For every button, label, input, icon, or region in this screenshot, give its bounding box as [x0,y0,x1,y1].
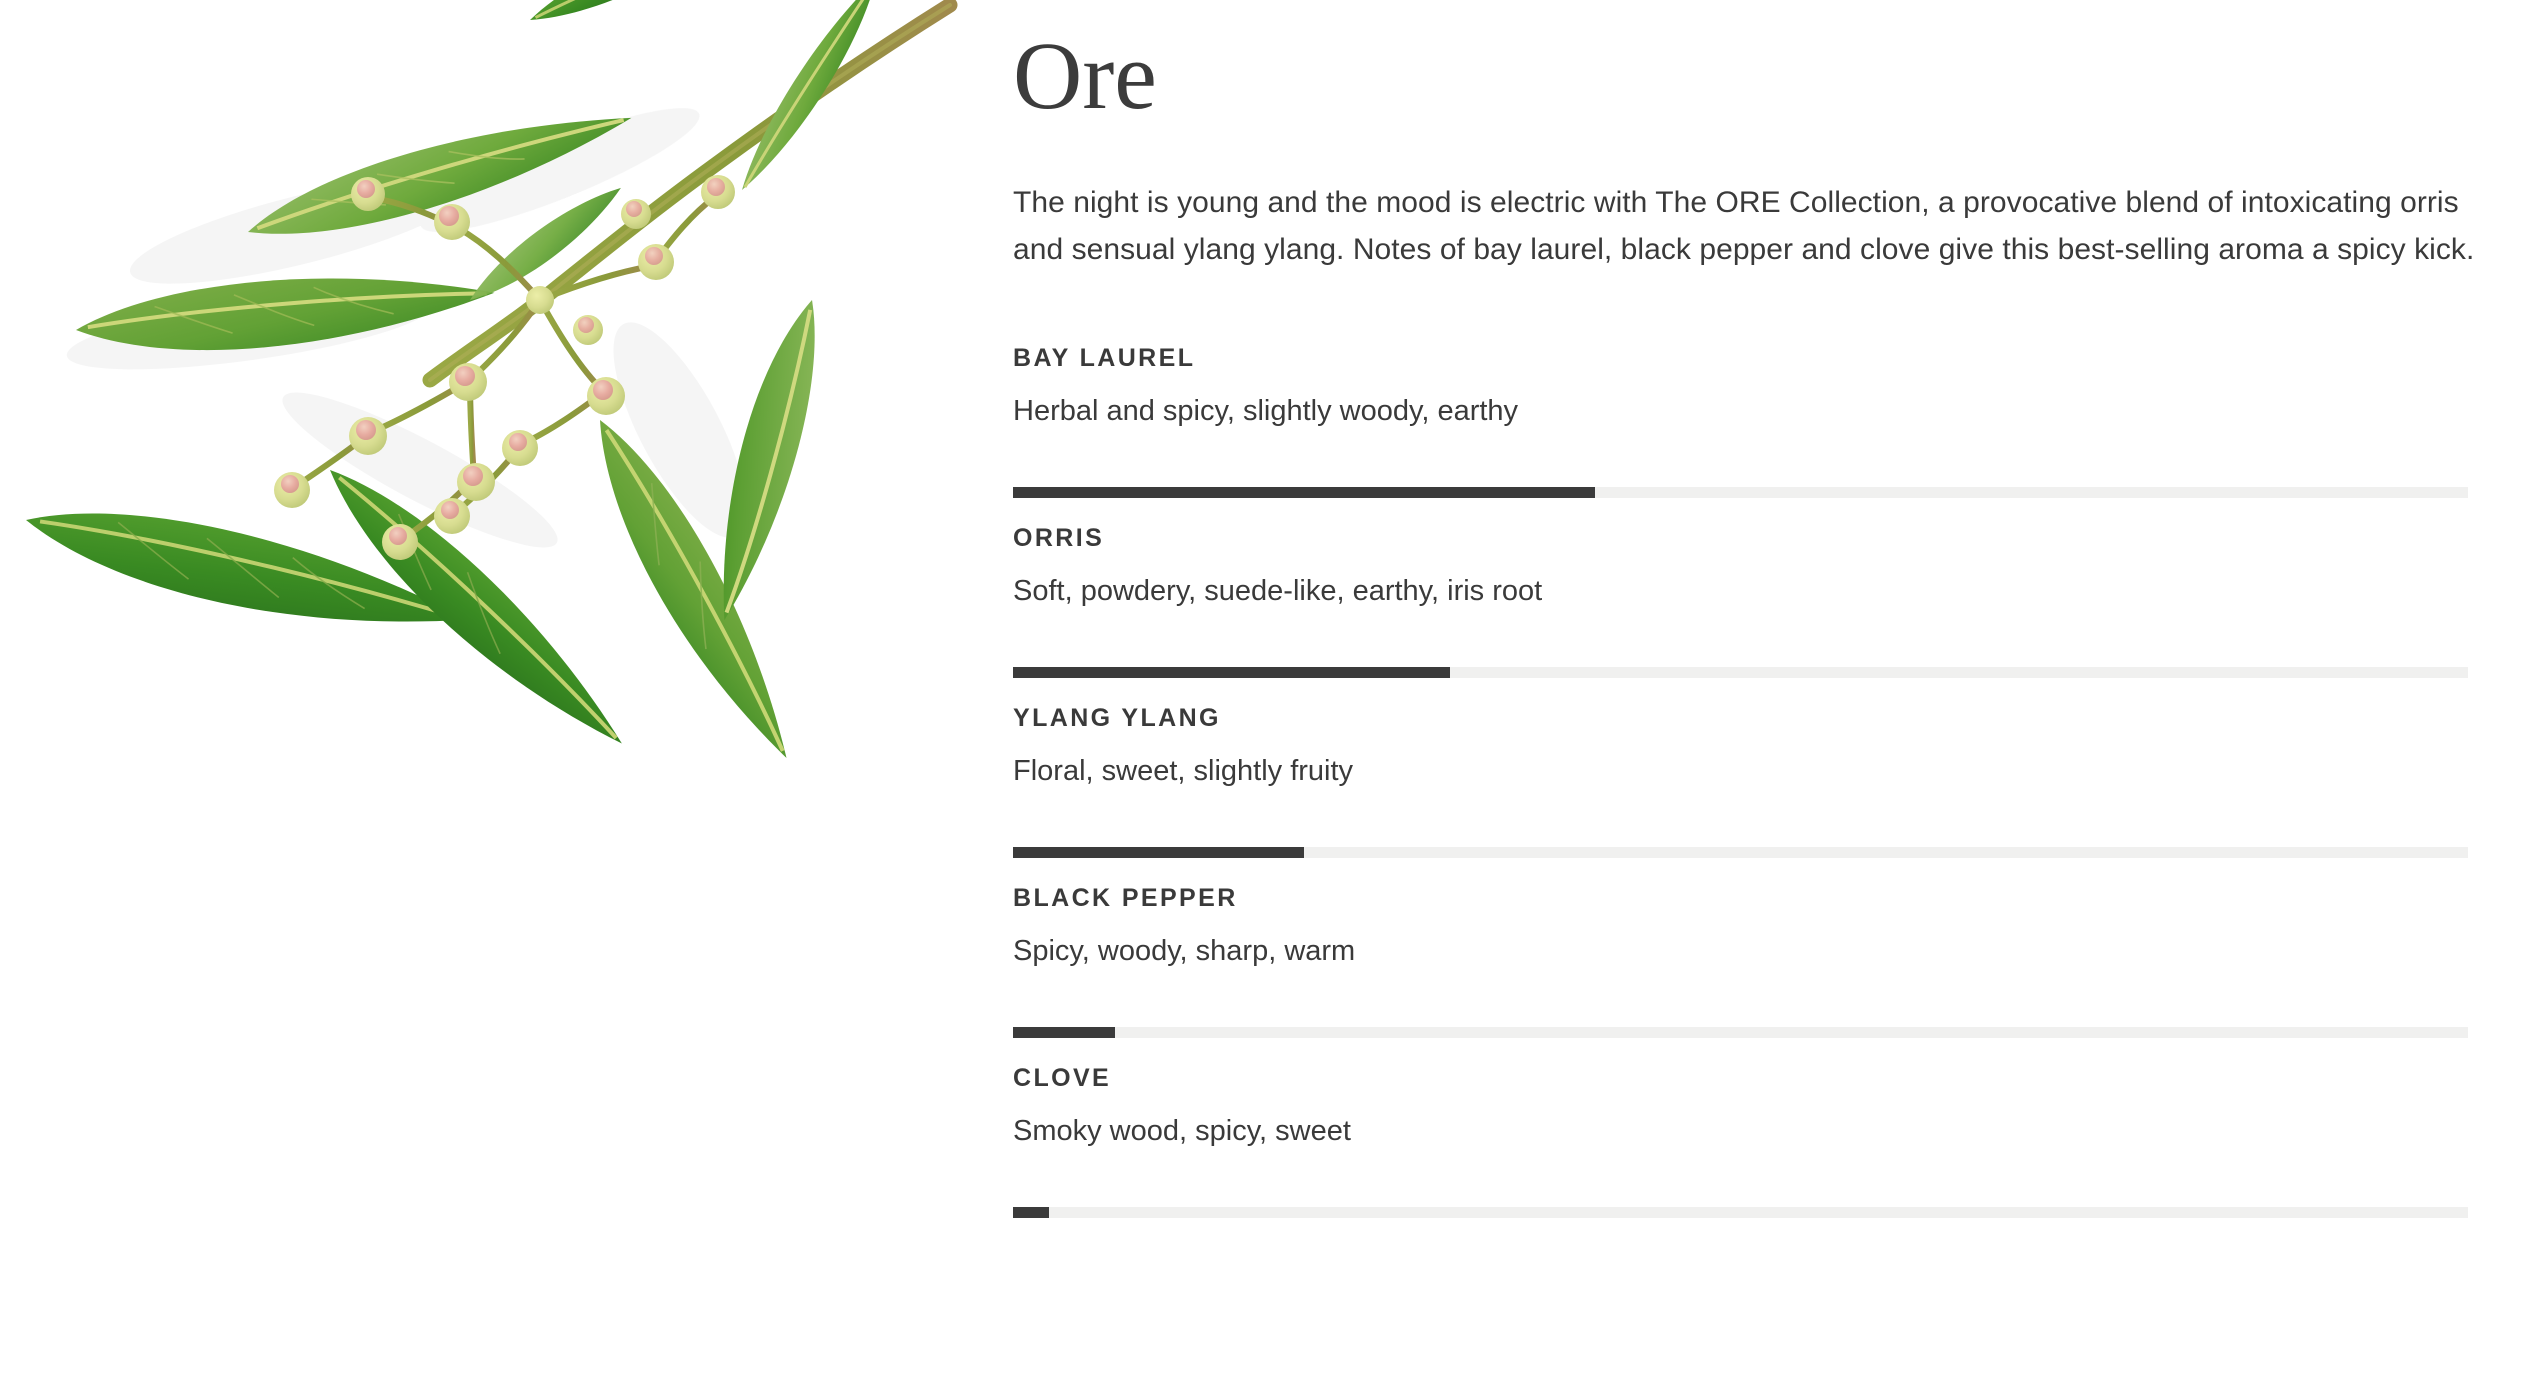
scent-note-description: Floral, sweet, slightly fruity [1013,753,2468,791]
scent-note-description: Soft, powdery, suede-like, earthy, iris … [1013,573,2468,611]
scent-note-description: Smoky wood, spicy, sweet [1013,1113,2468,1151]
bay-laurel-branch-photo [0,0,980,900]
product-detail-page: Ore The night is young and the mood is e… [0,0,2528,1398]
scent-note-meter-fill [1013,847,1304,858]
scent-note-meter-track [1013,1027,2468,1038]
scent-note-description: Spicy, woody, sharp, warm [1013,933,2468,971]
product-description: The night is young and the mood is elect… [1013,179,2475,274]
scent-note-name: ORRIS [1013,520,2468,551]
scent-note-name: YLANG YLANG [1013,700,2468,731]
scent-note-description: Herbal and spicy, slightly woody, earthy [1013,393,2468,431]
scent-notes-list: BAY LAUREL Herbal and spicy, slightly wo… [1013,340,2468,1240]
scent-note-item: ORRIS Soft, powdery, suede-like, earthy,… [1013,520,2468,700]
scent-note-item: CLOVE Smoky wood, spicy, sweet [1013,1060,2468,1240]
scent-note-meter-track [1013,667,2468,678]
bay-laurel-illustration [0,0,980,900]
scent-note-name: BLACK PEPPER [1013,880,2468,911]
scent-note-item: BAY LAUREL Herbal and spicy, slightly wo… [1013,340,2468,520]
scent-note-meter-track [1013,847,2468,858]
scent-note-item: BLACK PEPPER Spicy, woody, sharp, warm [1013,880,2468,1060]
scent-note-item: YLANG YLANG Floral, sweet, slightly frui… [1013,700,2468,880]
scent-note-meter-fill [1013,1207,1049,1218]
product-image-pane [0,0,980,1398]
scent-note-meter-track [1013,1207,2468,1218]
scent-note-meter-fill [1013,667,1450,678]
product-info-pane: Ore The night is young and the mood is e… [980,0,2528,1398]
scent-note-name: CLOVE [1013,1060,2468,1091]
scent-note-meter-fill [1013,1027,1115,1038]
scent-note-name: BAY LAUREL [1013,340,2468,371]
page-title: Ore [1013,26,2468,127]
scent-note-meter-fill [1013,487,1595,498]
scent-note-meter-track [1013,487,2468,498]
